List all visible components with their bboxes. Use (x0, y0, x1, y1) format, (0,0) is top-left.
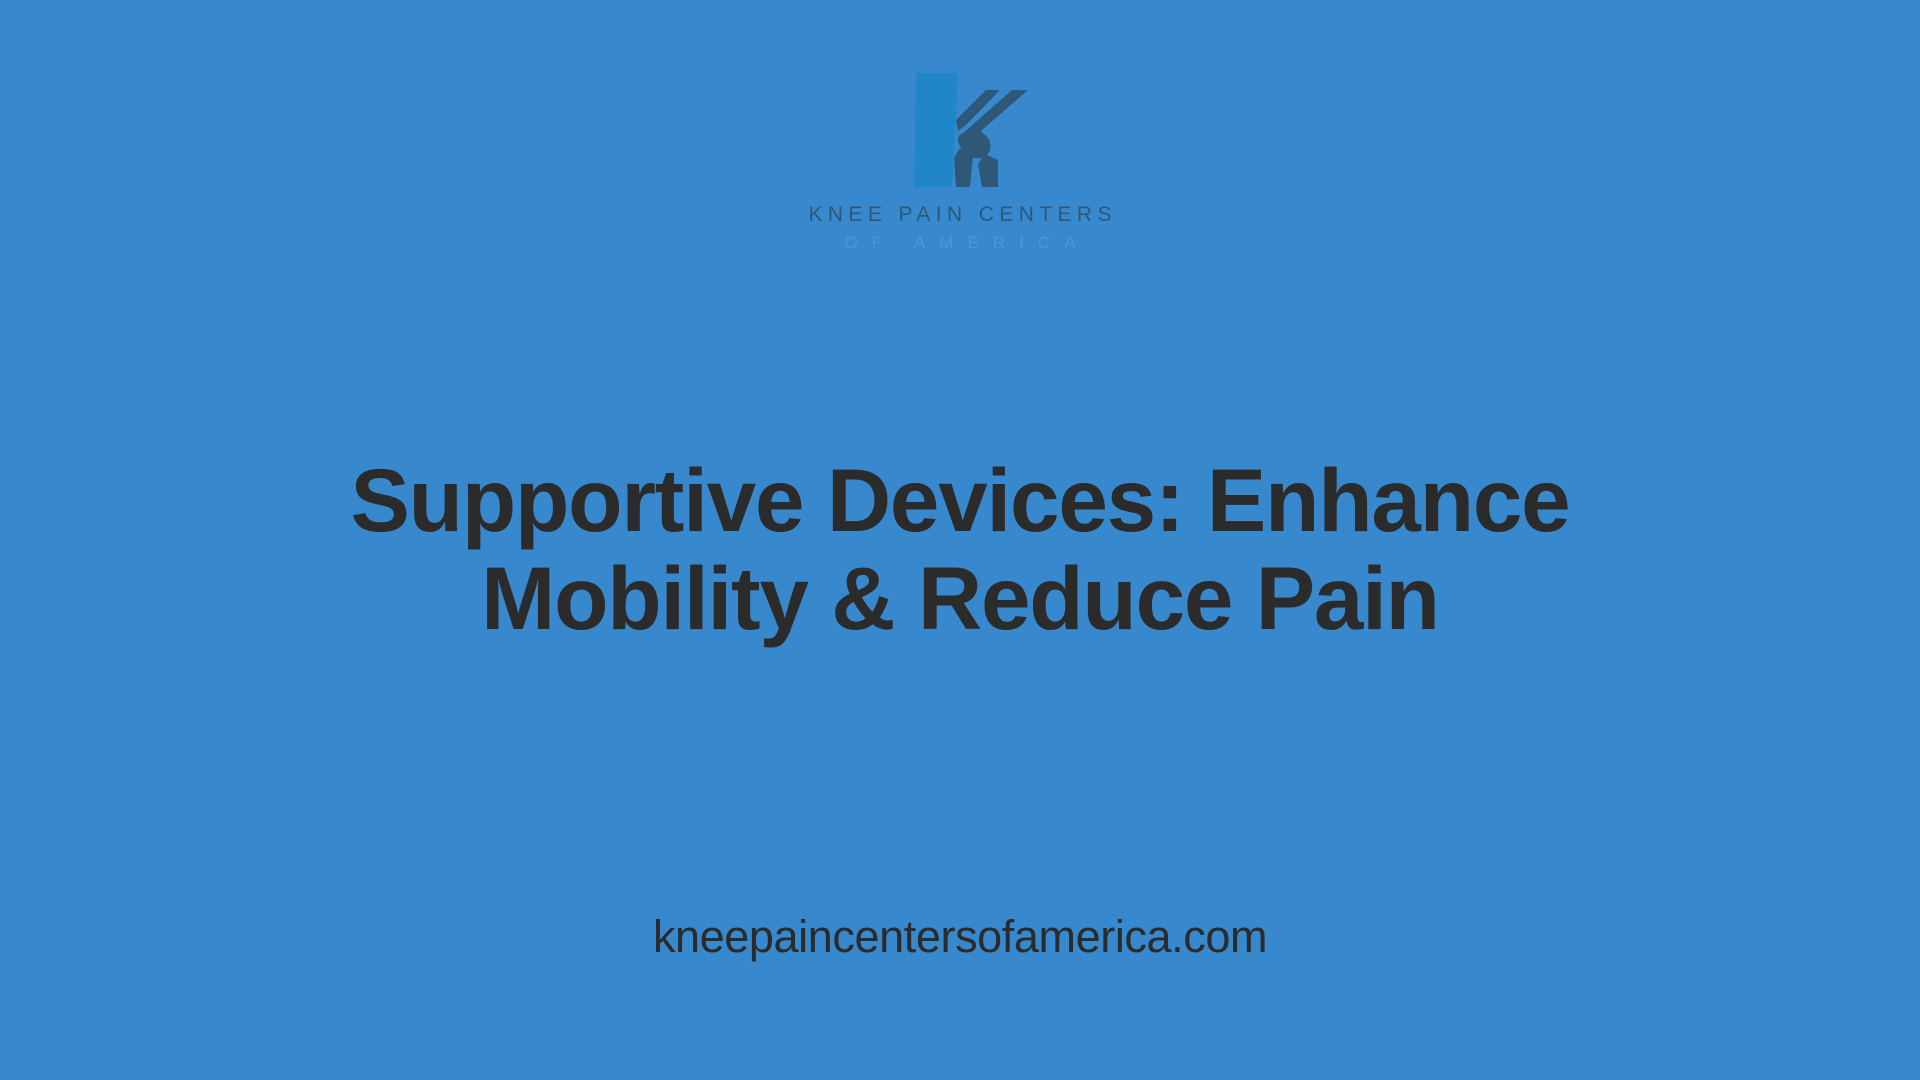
page-title-line-2: Mobility & Reduce Pain (140, 550, 1780, 648)
knee-joint-k-logo-icon (878, 68, 1042, 192)
brand-wordmark: KNEE PAIN CENTERS (803, 204, 1117, 225)
site-url: kneepaincentersofamerica.com (0, 914, 1920, 959)
brand-logo-block: KNEE PAIN CENTERS OF AMERICA (0, 68, 1920, 251)
page-title: Supportive Devices: Enhance Mobility & R… (140, 452, 1780, 648)
page-title-line-1: Supportive Devices: Enhance (140, 452, 1780, 550)
brand-subwordmark: OF AMERICA (831, 234, 1090, 251)
share-card: KNEE PAIN CENTERS OF AMERICA Supportive … (0, 0, 1920, 1080)
